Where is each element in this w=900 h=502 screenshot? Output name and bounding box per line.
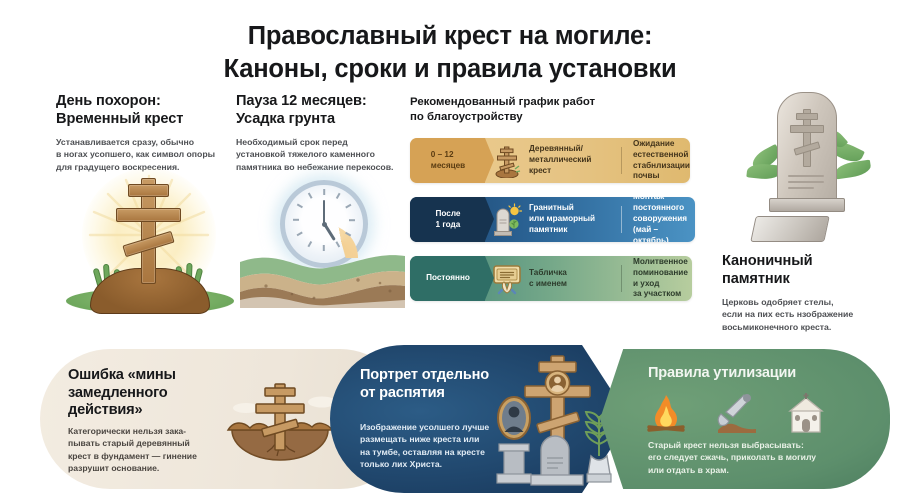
schedule-row-period: 0 – 12 месяцев	[410, 138, 485, 183]
engraved-line	[788, 181, 824, 183]
schedule-row-why: Молитвенное поминование и уход за участк…	[622, 256, 692, 301]
stele-slab	[777, 92, 837, 202]
engraved-cross-main-beam	[790, 125, 824, 133]
section-temporary-cross: День похорон: Временный крест Устанавлив…	[56, 93, 236, 173]
title-line-2: Каноны, сроки и правила установки	[0, 53, 900, 86]
schedule-row-why: Монтаж постоянного соворужения (май – ок…	[622, 197, 695, 242]
disposal-icons	[644, 391, 890, 435]
section-canonical-monument-body: Церковь одобряет стелы, если на пих есть…	[722, 296, 892, 334]
banner-disposal: Правила утилизации	[600, 349, 890, 489]
schedule-row: Постоянно Табличка с именем Молитвенное …	[410, 256, 692, 301]
schedule-row-what: Деревянный/ металлический крест	[529, 138, 621, 183]
section-soil-settling-heading: Пауза 12 месяцев: Усадка грунта	[236, 93, 414, 129]
schedule-row-period: После 1 года	[410, 197, 485, 242]
page-title: Православный крест на могиле: Каноны, ср…	[0, 20, 900, 85]
granite-stele-illustration	[745, 88, 875, 248]
section-soil-settling: Пауза 12 месяцев: Усадка грунта Необходи…	[236, 93, 414, 173]
title-line-1: Православный крест на могиле:	[248, 22, 653, 50]
section-canonical-monument-heading: Каноничный памятник	[722, 253, 892, 289]
schedule-row-what: Табличка с именем	[529, 256, 621, 301]
clock-minute-hand	[323, 200, 326, 224]
schedule-row-why: Ожидание естественной стабнлизации почвы	[622, 138, 690, 183]
schedule-row: После 1 года Гранитный или мраморный пам…	[410, 197, 695, 242]
clock-center-pin	[322, 222, 327, 227]
section-soil-settling-body: Необходимый срок перед установкой тяжело…	[236, 136, 414, 174]
stele-base	[769, 198, 845, 212]
banner-disposal-heading: Правила утилизации	[648, 365, 888, 383]
cross-main-beam	[116, 208, 181, 222]
soil-settling-illustration	[240, 178, 405, 308]
cross-top-beam	[128, 184, 169, 197]
banner-disposal-body: Старый крест нельзя выбрасывать: его сле…	[648, 439, 888, 476]
fire-icon	[644, 392, 688, 434]
schedule-row-period: Постоянно	[410, 256, 485, 301]
engraved-cross-top-beam	[796, 113, 818, 120]
infographic-page: Православный крест на могиле: Каноны, ср…	[0, 0, 900, 502]
buried-cross-illustration	[210, 378, 350, 482]
engraved-line	[788, 187, 814, 189]
wooden-cross-illustration	[60, 172, 240, 312]
engraved-line	[788, 175, 824, 177]
schedule-row-what: Гранитный или мраморный памятник	[529, 197, 621, 242]
leaf-icon	[834, 160, 872, 180]
soil-strata-icon	[240, 242, 405, 308]
schedule-row: 0 – 12 месяцев Деревянный/ металлический…	[410, 138, 690, 183]
shovel-icon	[714, 392, 758, 434]
section-temporary-cross-heading: День похорон: Временный крест	[56, 93, 236, 129]
grave-slab	[750, 216, 830, 242]
schedule-heading: Рекомендованный график работ по благоуст…	[410, 95, 670, 126]
section-canonical-monument: Каноничный памятник Церковь одобряет сте…	[722, 253, 892, 333]
church-icon	[784, 392, 828, 434]
